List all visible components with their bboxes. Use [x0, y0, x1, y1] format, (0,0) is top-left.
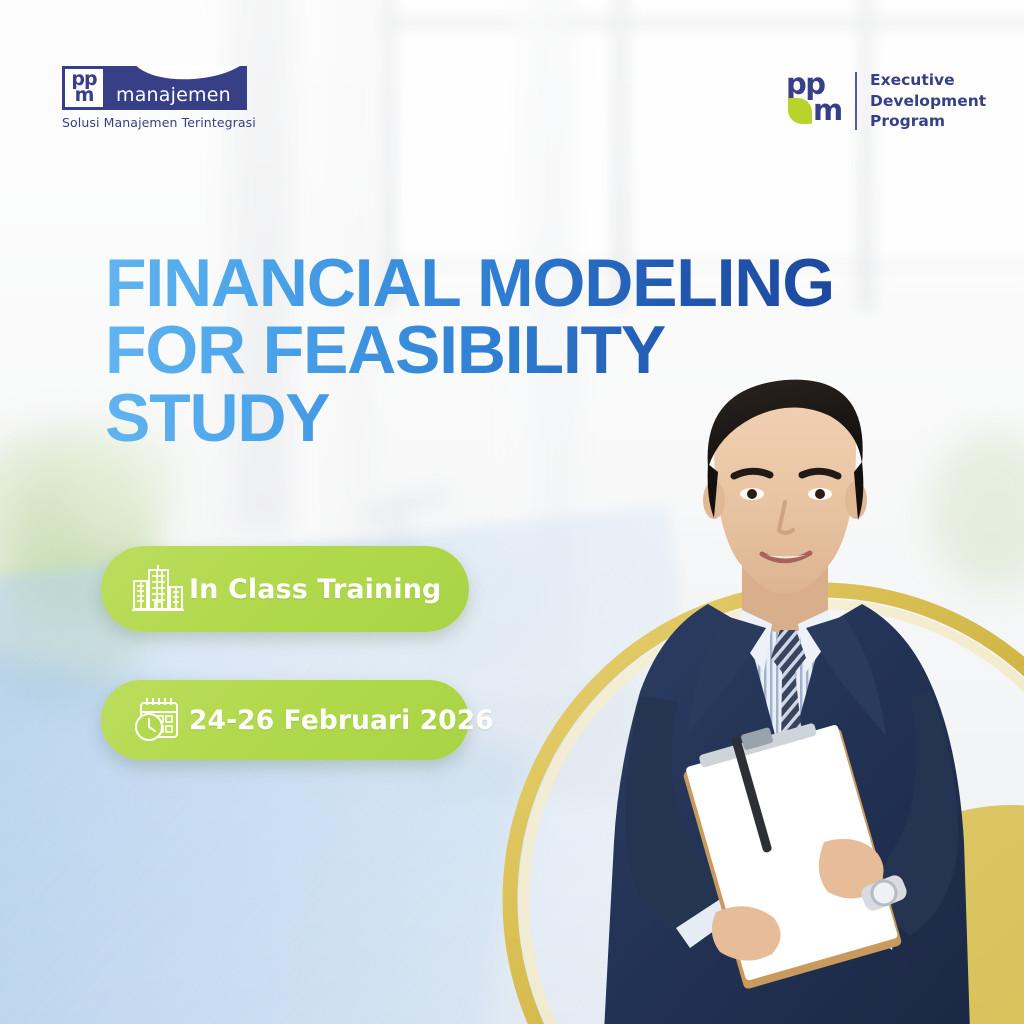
ppm-monogram: pp m	[62, 66, 106, 110]
ppm-monogram-bottom: m	[75, 88, 94, 104]
edp-monogram-bottom: m	[813, 96, 842, 125]
badge-training-format[interactable]: In Class Training	[101, 546, 469, 632]
promo-poster: pp m manajemen Solusi Manajemen Terinteg…	[0, 0, 1024, 1024]
edp-title: Executive Development Program	[870, 70, 986, 132]
ppm-tagline: Solusi Manajemen Terintegrasi	[62, 115, 247, 130]
title-line-1: FINANCIAL MODELING	[105, 250, 845, 317]
info-badges: In Class Training	[101, 546, 469, 760]
edp-line-1: Executive	[870, 70, 986, 91]
edp-logo: pp m Executive Development Program	[786, 70, 986, 132]
buildings-icon	[127, 565, 189, 613]
leaf-icon	[788, 98, 812, 124]
title-line-2: FOR FEASIBILITY	[105, 317, 845, 384]
divider	[855, 72, 857, 130]
badge-date-label: 24-26 Februari 2026	[189, 705, 494, 736]
edp-monogram: pp m	[786, 70, 842, 132]
badge-training-format-label: In Class Training	[189, 574, 441, 605]
calendar-clock-icon	[127, 696, 189, 744]
ppm-wordmark: manajemen	[116, 84, 231, 106]
page-title: FINANCIAL MODELING FOR FEASIBILITY STUDY	[105, 250, 845, 452]
edp-line-2: Development	[870, 91, 986, 112]
ppm-wordmark-box: manajemen	[106, 66, 247, 110]
swoosh-shape	[132, 66, 247, 83]
badge-date[interactable]: 24-26 Februari 2026	[101, 680, 469, 760]
edp-line-3: Program	[870, 111, 986, 132]
ppm-manajemen-logo: pp m manajemen Solusi Manajemen Terinteg…	[62, 66, 247, 130]
presenter-photo	[566, 372, 1024, 1024]
title-line-3: STUDY	[105, 385, 845, 452]
